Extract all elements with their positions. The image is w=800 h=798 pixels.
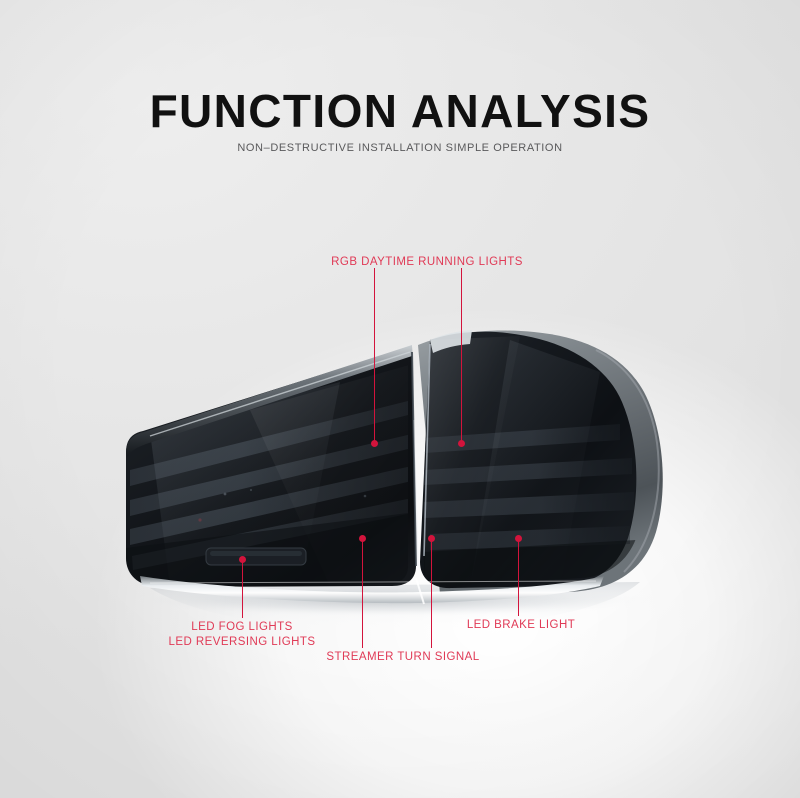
callout-label-led-fog-reversing: LED FOG LIGHTSLED REVERSING LIGHTS: [168, 620, 315, 650]
callout-label-line: LED BRAKE LIGHT: [467, 618, 575, 633]
callout-dot-led-fog-reversing: [239, 556, 246, 563]
leader-line-streamer-turn-signal: [431, 539, 432, 648]
callout-annotations: RGB DAYTIME RUNNING LIGHTSLED FOG LIGHTS…: [0, 0, 800, 798]
callout-label-rgb-drl: RGB DAYTIME RUNNING LIGHTS: [331, 255, 523, 270]
leader-line-led-fog-reversing: [242, 560, 243, 618]
callout-label-line: LED FOG LIGHTS: [168, 620, 315, 635]
callout-label-streamer-turn-signal: STREAMER TURN SIGNAL: [326, 650, 479, 665]
leader-line-led-brake-light: [518, 539, 519, 616]
callout-label-led-brake-light: LED BRAKE LIGHT: [467, 618, 575, 633]
leader-line-streamer-turn-signal: [362, 539, 363, 648]
callout-label-line: RGB DAYTIME RUNNING LIGHTS: [331, 255, 523, 270]
leader-line-rgb-drl: [374, 268, 375, 443]
callout-dot-streamer-turn-signal: [428, 535, 435, 542]
leader-line-rgb-drl: [461, 268, 462, 443]
product-function-analysis-image: FUNCTION ANALYSIS NON–DESTRUCTIVE INSTAL…: [0, 0, 800, 798]
callout-dot-rgb-drl: [458, 440, 465, 447]
callout-label-line: STREAMER TURN SIGNAL: [326, 650, 479, 665]
callout-label-line: LED REVERSING LIGHTS: [168, 635, 315, 650]
callout-dot-streamer-turn-signal: [359, 535, 366, 542]
callout-dot-rgb-drl: [371, 440, 378, 447]
callout-dot-led-brake-light: [515, 535, 522, 542]
